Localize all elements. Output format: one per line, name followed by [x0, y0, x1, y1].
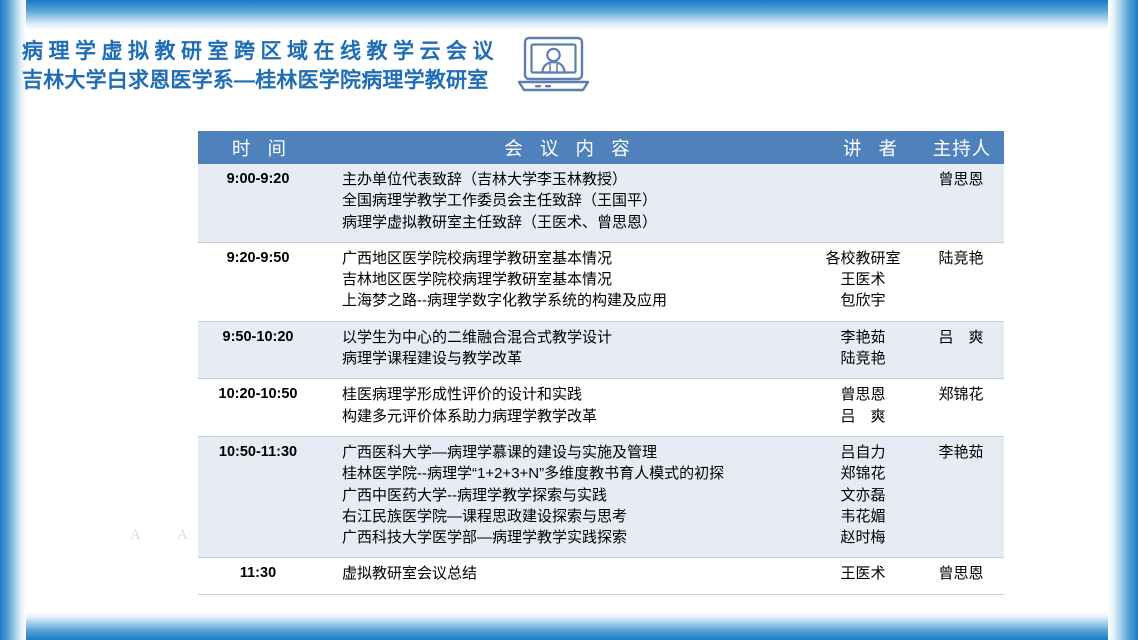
cell-time: 9:00-9:20 [198, 164, 320, 242]
cell-content: 虚拟教研室会议总结 [320, 558, 820, 594]
host-line: 郑锦花 [922, 384, 1000, 405]
cell-host: 曾思恩 [922, 164, 1004, 242]
frame-right-edge [1108, 0, 1138, 640]
slide-canvas: 病理学虚拟教研室跨区域在线教学云会议 吉林大学白求恩医学系—桂林医学院病理学教研… [0, 0, 1138, 640]
speaker-line: 王医术 [820, 269, 906, 290]
banner-text-block: 病理学虚拟教研室跨区域在线教学云会议 吉林大学白求恩医学系—桂林医学院病理学教研… [22, 38, 499, 94]
cell-time: 9:50-10:20 [198, 321, 320, 379]
host-line: 曾思恩 [922, 169, 1000, 190]
laptop-video-conference-icon [517, 35, 591, 100]
cell-time: 11:30 [198, 558, 320, 594]
speaker-line: 韦花媚 [820, 506, 906, 527]
cell-speaker [820, 164, 922, 242]
speaker-line: 李艳茹 [820, 327, 906, 348]
banner-title-line2: 吉林大学白求恩医学系—桂林医学院病理学教研室 [22, 67, 499, 95]
content-line: 虚拟教研室会议总结 [342, 563, 820, 584]
content-line: 主办单位代表致辞（吉林大学李玉林教授） [342, 169, 820, 190]
content-line: 广西医科大学—病理学慕课的建设与实施及管理 [342, 442, 820, 463]
table-row: 9:00-9:20主办单位代表致辞（吉林大学李玉林教授）全国病理学教学工作委员会… [198, 164, 1004, 242]
host-line: 吕 爽 [922, 327, 1000, 348]
speaker-line: 各校教研室 [820, 248, 906, 269]
frame-top-edge [0, 0, 1138, 30]
content-line: 上海梦之路--病理学数字化教学系统的构建及应用 [342, 290, 820, 311]
cell-time: 10:20-10:50 [198, 379, 320, 437]
watermark-letter: A [130, 527, 141, 544]
speaker-line: 郑锦花 [820, 463, 906, 484]
content-line: 桂林医学院--病理学“1+2+3+N”多维度教书育人模式的初探 [342, 463, 820, 484]
content-line: 构建多元评价体系助力病理学教学改革 [342, 406, 820, 427]
speaker-line: 包欣宇 [820, 290, 906, 311]
column-header-time: 时 间 [198, 131, 320, 164]
column-header-content: 会 议 内 容 [320, 131, 820, 164]
speaker-line: 吕 爽 [820, 406, 906, 427]
speaker-line: 文亦磊 [820, 485, 906, 506]
cell-speaker: 王医术 [820, 558, 922, 594]
cell-host: 吕 爽 [922, 321, 1004, 379]
cell-time: 9:20-9:50 [198, 242, 320, 321]
table-row: 10:50-11:30广西医科大学—病理学慕课的建设与实施及管理桂林医学院--病… [198, 436, 1004, 557]
cell-speaker: 吕自力郑锦花文亦磊韦花媚赵时梅 [820, 436, 922, 557]
frame-bottom-edge [0, 612, 1138, 640]
cell-host: 曾思恩 [922, 558, 1004, 594]
host-line: 李艳茹 [922, 442, 1000, 463]
column-header-speaker: 讲 者 [820, 131, 922, 164]
content-line: 桂医病理学形成性评价的设计和实践 [342, 384, 820, 405]
banner: 病理学虚拟教研室跨区域在线教学云会议 吉林大学白求恩医学系—桂林医学院病理学教研… [22, 28, 742, 104]
table-row: 9:50-10:20以学生为中心的二维融合混合式教学设计病理学课程建设与教学改革… [198, 321, 1004, 379]
cell-content: 主办单位代表致辞（吉林大学李玉林教授）全国病理学教学工作委员会主任致辞（王国平）… [320, 164, 820, 242]
table-row: 9:20-9:50广西地区医学院校病理学教研室基本情况吉林地区医学院校病理学教研… [198, 242, 1004, 321]
banner-title-line1: 病理学虚拟教研室跨区域在线教学云会议 [22, 38, 499, 66]
content-line: 广西中医药大学--病理学教学探索与实践 [342, 485, 820, 506]
cell-speaker: 李艳茹陆竞艳 [820, 321, 922, 379]
content-line: 广西地区医学院校病理学教研室基本情况 [342, 248, 820, 269]
agenda-table-body: 9:00-9:20主办单位代表致辞（吉林大学李玉林教授）全国病理学教学工作委员会… [198, 164, 1004, 594]
cell-speaker: 各校教研室王医术包欣宇 [820, 242, 922, 321]
agenda-header-row: 时 间 会 议 内 容 讲 者 主持人 [198, 131, 1004, 164]
agenda-table-container: 时 间 会 议 内 容 讲 者 主持人 9:00-9:20主办单位代表致辞（吉林… [198, 131, 1004, 595]
speaker-line: 陆竞艳 [820, 348, 906, 369]
speaker-line: 吕自力 [820, 442, 906, 463]
content-line: 病理学课程建设与教学改革 [342, 348, 820, 369]
cell-host: 李艳茹 [922, 436, 1004, 557]
table-row: 10:20-10:50桂医病理学形成性评价的设计和实践构建多元评价体系助力病理学… [198, 379, 1004, 437]
cell-content: 广西地区医学院校病理学教研室基本情况吉林地区医学院校病理学教研室基本情况上海梦之… [320, 242, 820, 321]
host-line: 陆竞艳 [922, 248, 1000, 269]
agenda-table-head: 时 间 会 议 内 容 讲 者 主持人 [198, 131, 1004, 164]
content-line: 以学生为中心的二维融合混合式教学设计 [342, 327, 820, 348]
content-line: 吉林地区医学院校病理学教研室基本情况 [342, 269, 820, 290]
cell-content: 以学生为中心的二维融合混合式教学设计病理学课程建设与教学改革 [320, 321, 820, 379]
speaker-line: 赵时梅 [820, 527, 906, 548]
content-line: 全国病理学教学工作委员会主任致辞（王国平） [342, 190, 820, 211]
cell-content: 桂医病理学形成性评价的设计和实践构建多元评价体系助力病理学教学改革 [320, 379, 820, 437]
content-line: 病理学虚拟教研室主任致辞（王医术、曾思恩） [342, 212, 820, 233]
content-line: 广西科技大学医学部—病理学教学实践探索 [342, 527, 820, 548]
agenda-table: 时 间 会 议 内 容 讲 者 主持人 9:00-9:20主办单位代表致辞（吉林… [198, 131, 1004, 595]
speaker-line: 曾思恩 [820, 384, 906, 405]
cell-speaker: 曾思恩吕 爽 [820, 379, 922, 437]
watermark-letter: A [177, 527, 188, 544]
table-row: 11:30虚拟教研室会议总结王医术曾思恩 [198, 558, 1004, 594]
host-line: 曾思恩 [922, 563, 1000, 584]
cell-host: 陆竞艳 [922, 242, 1004, 321]
column-header-host: 主持人 [922, 131, 1004, 164]
cell-content: 广西医科大学—病理学慕课的建设与实施及管理桂林医学院--病理学“1+2+3+N”… [320, 436, 820, 557]
cell-time: 10:50-11:30 [198, 436, 320, 557]
speaker-line: 王医术 [820, 563, 906, 584]
content-line: 右江民族医学院—课程思政建设探索与思考 [342, 506, 820, 527]
cell-host: 郑锦花 [922, 379, 1004, 437]
